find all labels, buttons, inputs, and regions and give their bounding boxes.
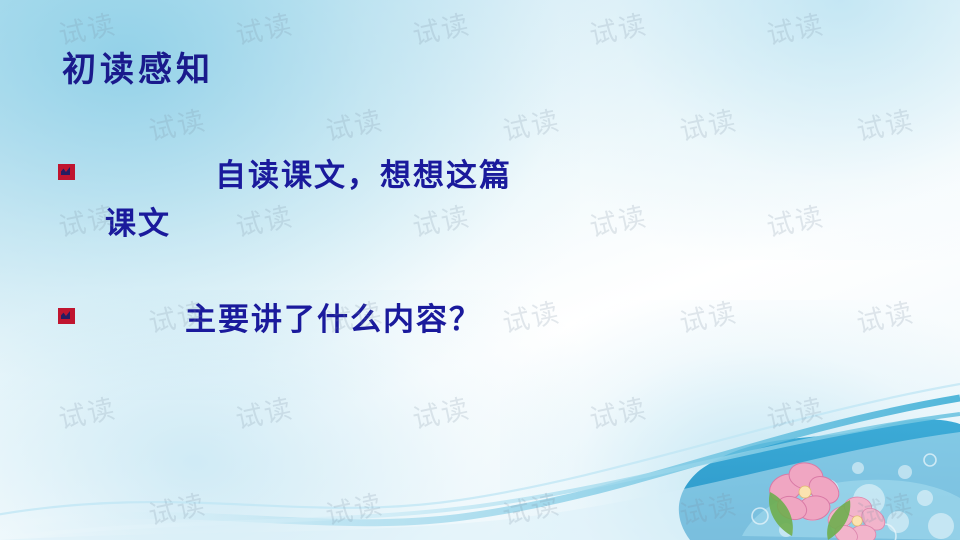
watermark-text: 试读 bbox=[763, 386, 828, 436]
watermark-text: 试读 bbox=[676, 482, 741, 532]
watermark-text: 试读 bbox=[409, 386, 474, 436]
watermark-text: 试读 bbox=[145, 98, 210, 148]
flower-decoration bbox=[765, 460, 844, 523]
square-bullet-icon bbox=[58, 308, 75, 324]
bullet-item-1-text: 自读课文，想想这篇 课文 bbox=[75, 152, 512, 248]
leaf-decoration bbox=[769, 492, 850, 540]
watermark-text: 试读 bbox=[763, 2, 828, 52]
watermark-text: 试读 bbox=[676, 98, 741, 148]
bottom-decoration bbox=[0, 340, 960, 540]
watermark-text: 试读 bbox=[499, 98, 564, 148]
watermark-text: 试读 bbox=[232, 2, 297, 52]
square-bullet-icon bbox=[58, 164, 75, 180]
watermark-text: 试读 bbox=[853, 98, 918, 148]
watermark-text: 试读 bbox=[586, 386, 651, 436]
watermark-text: 试读 bbox=[232, 386, 297, 436]
bullet-item-1-line1: 自读课文，想想这篇 bbox=[215, 158, 512, 194]
watermark-text: 试读 bbox=[322, 98, 387, 148]
bullet-item-2: 主要讲了什么内容？ bbox=[58, 296, 858, 344]
watermark-text: 试读 bbox=[853, 290, 918, 340]
bullet-item-1: 自读课文，想想这篇 课文 bbox=[58, 152, 858, 248]
watermark-text: 试读 bbox=[499, 482, 564, 532]
watermark-text: 试读 bbox=[586, 2, 651, 52]
bullet-item-1-line2: 课文 bbox=[105, 200, 512, 248]
page-title: 初读感知 bbox=[62, 42, 214, 91]
watermark-text: 试读 bbox=[409, 2, 474, 52]
watermark-text: 试读 bbox=[55, 386, 120, 436]
watermark-text: 试读 bbox=[322, 482, 387, 532]
bullet-item-2-text: 主要讲了什么内容？ bbox=[75, 296, 482, 344]
flower-decoration bbox=[824, 496, 889, 540]
watermark-text: 试读 bbox=[853, 482, 918, 532]
watermark-text: 试读 bbox=[145, 482, 210, 532]
slide-canvas: 初读感知 自读课文，想想这篇 课文 主要讲了什么内容？ 试读试读试读试读试读试读… bbox=[0, 0, 960, 540]
